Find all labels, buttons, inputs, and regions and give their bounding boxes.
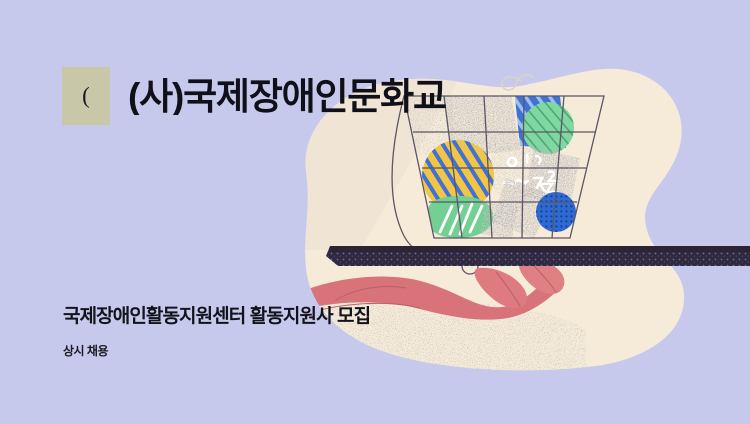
logo-glyph: ( [82, 84, 90, 107]
shopping-cart-with-hand-illustration [0, 0, 750, 424]
organization-title: (사)국제장애인문화교 [128, 78, 446, 115]
recruitment-headline: 국제장애인활동지원센터 활동지원사 모집 [63, 306, 370, 328]
organization-logo-mark: ( [62, 67, 110, 125]
recruitment-banner: ( (사)국제장애인문화교 국제장애인활동지원센터 활동지원사 모집 상시 채용 [0, 0, 750, 424]
banner-header: ( (사)국제장애인문화교 [62, 67, 446, 125]
dark-counter-bar [326, 246, 750, 266]
recruitment-copy-block: 국제장애인활동지원센터 활동지원사 모집 상시 채용 [63, 306, 370, 359]
recruitment-subline: 상시 채용 [63, 342, 370, 359]
